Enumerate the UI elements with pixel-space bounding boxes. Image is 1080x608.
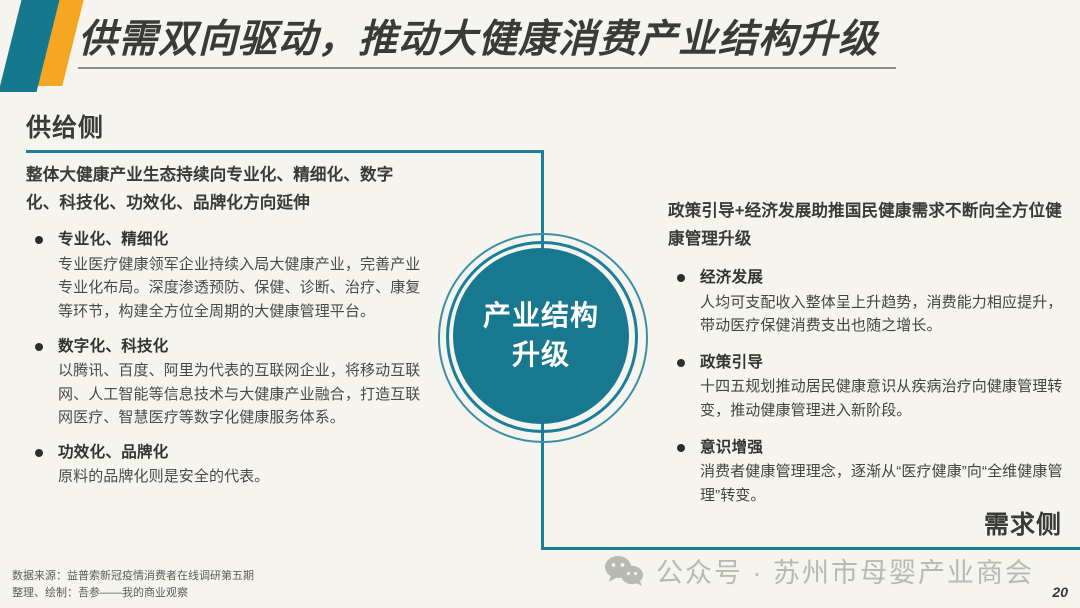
watermark-text: 公众号 · 苏州市母婴产业商会 <box>656 551 1034 590</box>
list-item-body: 专业医疗健康领军企业持续入局大健康产业，完善产业专业化布局。深度渗透预防、保健、… <box>58 253 426 324</box>
list-item-title: 专业化、精细化 <box>58 228 426 251</box>
demand-side-heading: 需求侧 <box>984 505 1062 541</box>
list-item: 专业化、精细化 专业医疗健康领军企业持续入局大健康产业，完善产业专业化布局。深度… <box>26 228 426 323</box>
title-block: 供需双向驱动，推动大健康消费产业结构升级 <box>78 16 1008 69</box>
slide-root: 供需双向驱动，推动大健康消费产业结构升级 供给侧 需求侧 产业结构 升级 整体大… <box>0 0 1080 608</box>
list-item: 意识增强 消费者健康管理理念，逐渐从“医疗健康”向“全维健康管理”转变。 <box>668 436 1066 508</box>
page-title: 供需双向驱动，推动大健康消费产业结构升级 <box>78 16 1008 65</box>
source-note-line2: 整理、绘制：吾参——我的商业观察 <box>12 585 254 602</box>
supply-bullet-list: 专业化、精细化 专业医疗健康领军企业持续入局大健康产业，完善产业专业化布局。深度… <box>26 228 426 489</box>
list-item-body: 十四五规划推动居民健康意识从疾病治疗向健康管理转变，推动健康管理进入新阶段。 <box>700 375 1066 422</box>
list-item-body: 以腾讯、百度、阿里为代表的互联网企业，将移动互联网、人工智能等信息技术与大健康产… <box>58 359 426 430</box>
bullet-dot-icon <box>35 343 43 351</box>
demand-side-column: 政策引导+经济发展助推国民健康需求不断向全方位健康管理升级 经济发展 人均可支配… <box>668 198 1066 507</box>
wechat-icon <box>604 555 644 587</box>
watermark: 公众号 · 苏州市母婴产业商会 <box>604 551 1034 590</box>
circle-core: 产业结构 升级 <box>453 248 629 424</box>
list-item-title: 功效化、品牌化 <box>58 441 426 464</box>
list-item-body: 人均可支配收入整体呈上升趋势，消费能力相应提升，带动医疗保健消费支出也随之增长。 <box>700 291 1066 338</box>
source-note: 数据来源：益普索新冠疫情消费者在线调研第五期 整理、绘制：吾参——我的商业观察 <box>12 568 254 601</box>
source-note-line1: 数据来源：益普索新冠疫情消费者在线调研第五期 <box>12 568 254 585</box>
bullet-dot-icon <box>35 449 43 457</box>
list-item: 数字化、科技化 以腾讯、百度、阿里为代表的互联网企业，将移动互联网、人工智能等信… <box>26 335 426 430</box>
demand-bullet-list: 经济发展 人均可支配收入整体呈上升趋势，消费能力相应提升，带动医疗保健消费支出也… <box>668 266 1066 507</box>
bullet-dot-icon <box>35 236 43 244</box>
circle-label-line2: 升级 <box>512 336 570 375</box>
list-item-title: 政策引导 <box>700 351 1066 374</box>
list-item-title: 意识增强 <box>700 436 1066 459</box>
bullet-dot-icon <box>677 359 685 367</box>
demand-lead-text: 政策引导+经济发展助推国民健康需求不断向全方位健康管理升级 <box>668 198 1066 253</box>
supply-side-heading: 供给侧 <box>26 108 104 144</box>
bullet-dot-icon <box>677 274 685 282</box>
list-item-title: 经济发展 <box>700 266 1066 289</box>
list-item: 经济发展 人均可支配收入整体呈上升趋势，消费能力相应提升，带动医疗保健消费支出也… <box>668 266 1066 338</box>
list-item-body: 原料的品牌化则是安全的代表。 <box>58 465 426 489</box>
title-underline <box>78 67 896 69</box>
list-item-body: 消费者健康管理理念，逐渐从“医疗健康”向“全维健康管理”转变。 <box>700 460 1066 507</box>
supply-lead-text: 整体大健康产业生态持续向专业化、精细化、数字化、科技化、功效化、品牌化方向延伸 <box>26 162 426 217</box>
list-item-title: 数字化、科技化 <box>58 335 426 358</box>
circle-label-line1: 产业结构 <box>483 297 599 336</box>
bullet-dot-icon <box>677 444 685 452</box>
connector-line-top-horizontal <box>26 150 544 153</box>
list-item: 功效化、品牌化 原料的品牌化则是安全的代表。 <box>26 441 426 489</box>
page-number: 20 <box>1052 584 1068 600</box>
list-item: 政策引导 十四五规划推动居民健康意识从疾病治疗向健康管理转变，推动健康管理进入新… <box>668 351 1066 423</box>
center-circle-graphic: 产业结构 升级 <box>438 233 648 443</box>
connector-line-bottom-horizontal <box>541 547 1080 550</box>
supply-side-column: 整体大健康产业生态持续向专业化、精细化、数字化、科技化、功效化、品牌化方向延伸 … <box>26 162 426 489</box>
